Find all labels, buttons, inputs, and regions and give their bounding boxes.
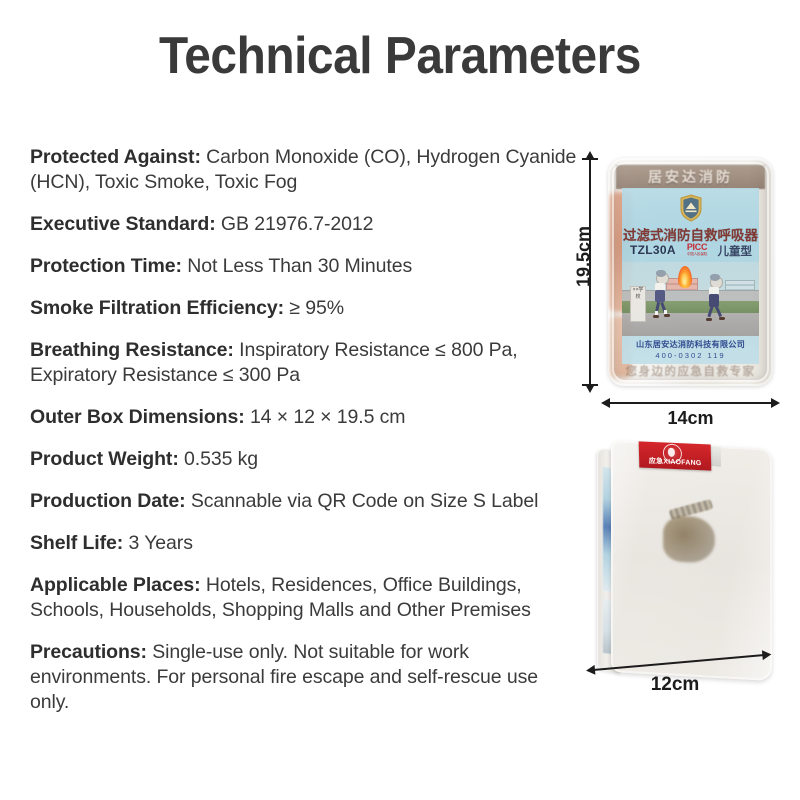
school-gate-sign: ××学校 — [630, 286, 646, 322]
spec-label: Executive Standard — [30, 213, 209, 235]
spec-separator: : — [141, 641, 153, 663]
hood-filter-canister — [663, 515, 715, 564]
height-dimension-tick-top — [582, 158, 598, 160]
spec-separator: : — [117, 532, 129, 554]
product-label-title: 过滤式消防自救呼吸器 — [622, 224, 759, 244]
product-figures: 19.5cm 居安达消防 过滤式消防自救呼吸器 TZL30A PICC — [575, 150, 800, 720]
spec-row-protected-against: Protected Against: Carbon Monoxide (CO),… — [30, 145, 582, 195]
spec-value: Not Less Than 30 Minutes — [187, 255, 412, 277]
spec-value: 14 × 12 × 19.5 cm — [250, 406, 406, 428]
spec-label: Precautions — [30, 641, 141, 663]
spec-separator: : — [227, 339, 239, 361]
width-dimension-line — [608, 402, 773, 404]
spec-row-shelf-life: Shelf Life: 3 Years — [30, 531, 582, 556]
seal-sticker-text: 应急XIAOFANG — [639, 455, 711, 468]
spec-value: Scannable via QR Code on Size S Label — [191, 490, 539, 512]
box-lid-translucent — [611, 440, 772, 681]
embossed-slogan: 您身边的应急自救专家 — [618, 363, 763, 379]
box-angled-shell: 应急XIAOFANG — [597, 436, 772, 681]
spec-row-production-date: Production Date: Scannable via QR Code o… — [30, 489, 582, 514]
security-seal-sticker: 应急XIAOFANG — [639, 441, 712, 470]
technical-parameters-list: Protected Against: Carbon Monoxide (CO),… — [30, 145, 582, 732]
child-shoe-back — [706, 318, 712, 321]
product-box-angled-view: 应急XIAOFANG 12cm — [575, 436, 800, 720]
spec-label: Shelf Life — [30, 532, 117, 554]
spec-separator: : — [172, 448, 184, 470]
spec-label: Production Date — [30, 490, 179, 512]
child-leg-front — [715, 306, 722, 317]
spec-separator: : — [238, 406, 250, 428]
spec-label: Protected Against — [30, 146, 194, 168]
child-shoe-back — [653, 315, 659, 318]
picc-logo-subtext: 中国人民保险 — [682, 252, 712, 257]
box-header-text: 居安达消防 — [648, 167, 733, 187]
child-shoe-front — [664, 314, 670, 317]
spec-label: Outer Box Dimensions — [30, 406, 238, 428]
spec-label: Breathing Resistance — [30, 339, 227, 361]
label-illustration-scene: ××学校 — [622, 262, 759, 336]
product-type-badge: 儿童型 — [718, 243, 753, 259]
width-dimension-label: 14cm — [608, 408, 773, 429]
spec-row-protection-time: Protection Time: Not Less Than 30 Minute… — [30, 254, 582, 279]
spec-value: ≥ 95% — [289, 297, 344, 319]
box-front-shell: 居安达消防 过滤式消防自救呼吸器 TZL30A PICC 中国人民保险 儿童型 — [608, 158, 773, 386]
product-label-footer: 山东居安达消防科技有限公司 400-0302 119 — [622, 338, 759, 360]
spec-value: GB 21976.7-2012 — [221, 213, 373, 235]
picc-insurance-logo: PICC 中国人民保险 — [682, 243, 712, 257]
child-figure-left — [652, 272, 680, 324]
product-label-front: 过滤式消防自救呼吸器 TZL30A PICC 中国人民保险 儿童型 — [622, 188, 759, 364]
depth-dimension-label: 12cm — [605, 674, 745, 696]
child-leg-back — [707, 306, 713, 317]
flame-icon — [678, 266, 692, 288]
spec-separator: : — [179, 490, 191, 512]
manufacturer-name: 山东居安达消防科技有限公司 — [622, 338, 759, 350]
spec-separator: : — [209, 213, 221, 235]
hotline-number: 400-0302 119 — [622, 351, 759, 360]
picc-logo-text: PICC — [682, 243, 712, 252]
spec-value: 3 Years — [128, 532, 192, 554]
spec-separator: : — [278, 297, 290, 319]
spec-row-outer-box-dimensions: Outer Box Dimensions: 14 × 12 × 19.5 cm — [30, 405, 582, 430]
spec-separator: : — [194, 146, 206, 168]
spec-value: 0.535 kg — [184, 448, 258, 470]
escape-hood-icon — [656, 270, 666, 277]
escape-hood-icon — [710, 274, 720, 281]
spec-label: Smoke Filtration Efficiency — [30, 297, 278, 319]
child-figure-right — [706, 276, 734, 326]
spec-label: Applicable Places — [30, 574, 194, 596]
escape-hood-contents — [629, 455, 766, 671]
spec-row-smoke-filtration-efficiency: Smoke Filtration Efficiency: ≥ 95% — [30, 296, 582, 321]
spec-row-precautions: Precautions: Single-use only. Not suitab… — [30, 640, 582, 715]
height-dimension-tick-bottom — [582, 384, 598, 386]
spec-label: Product Weight — [30, 448, 172, 470]
child-skirt — [655, 290, 665, 302]
box-header-band: 居安达消防 — [616, 165, 765, 189]
school-gate-sign-text: ××学校 — [631, 287, 645, 301]
product-box-front-view: 19.5cm 居安达消防 过滤式消防自救呼吸器 TZL30A PICC — [575, 150, 800, 425]
spec-separator: : — [194, 574, 206, 596]
spec-row-executive-standard: Executive Standard: GB 21976.7-2012 — [30, 212, 582, 237]
height-dimension-label: 19.5cm — [574, 214, 595, 300]
spec-label: Protection Time — [30, 255, 176, 277]
spec-row-applicable-places: Applicable Places: Hotels, Residences, O… — [30, 573, 582, 623]
spec-row-product-weight: Product Weight: 0.535 kg — [30, 447, 582, 472]
product-model-code: TZL30A — [630, 243, 676, 257]
shield-emblem-icon — [679, 194, 703, 222]
child-shoe-front — [719, 317, 725, 320]
page-title: Technical Parameters — [32, 26, 768, 86]
spec-separator: : — [176, 255, 188, 277]
spec-row-breathing-resistance: Breathing Resistance: Inspiratory Resist… — [30, 338, 582, 388]
